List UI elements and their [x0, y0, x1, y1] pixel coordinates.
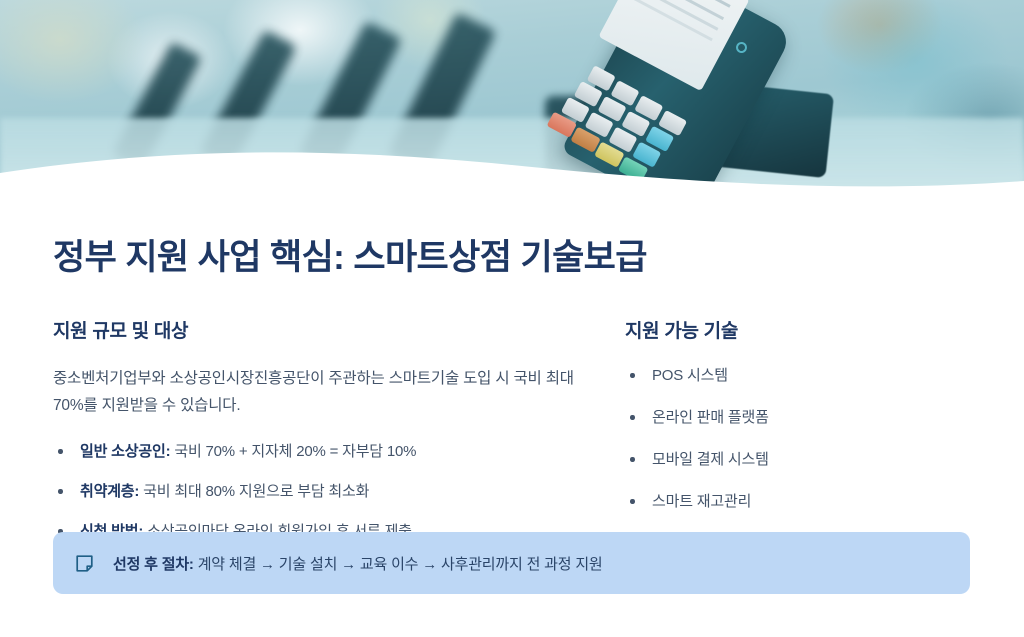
section-heading-left: 지원 규모 및 대상 — [53, 316, 593, 343]
slide: 정부 지원 사업 핵심: 스마트상점 기술보급 지원 규모 및 대상 중소벤처기… — [0, 0, 1024, 637]
process-callout-label: 선정 후 절차: — [113, 556, 194, 573]
lead-paragraph: 중소벤처기업부와 소상공인시장진흥공단이 주관하는 스마트기술 도입 시 국비 … — [53, 365, 593, 419]
support-scope-section: 지원 규모 및 대상 중소벤처기업부와 소상공인시장진흥공단이 주관하는 스마트… — [53, 316, 593, 561]
list-item: 스마트 재고관리 — [625, 491, 975, 512]
support-scope-list: 일반 소상공인: 국비 70% + 지자체 20% = 자부담 10% 취약계층… — [53, 441, 593, 542]
list-item-label: 일반 소상공인: — [80, 443, 170, 460]
section-heading-right: 지원 가능 기술 — [625, 316, 975, 343]
note-icon — [76, 555, 93, 572]
list-item-text: 국비 70% + 지자체 20% = 자부담 10% — [170, 443, 416, 460]
list-item: 일반 소상공인: 국비 70% + 지자체 20% = 자부담 10% — [53, 441, 593, 462]
page-title: 정부 지원 사업 핵심: 스마트상점 기술보급 — [53, 229, 647, 280]
available-tech-list: POS 시스템 온라인 판매 플랫폼 모바일 결제 시스템 스마트 재고관리 디… — [625, 365, 975, 554]
list-item: 온라인 판매 플랫폼 — [625, 407, 975, 428]
list-item: 모바일 결제 시스템 — [625, 449, 975, 470]
process-callout-steps: 계약 체결 → 기술 설치 → 교육 이수 → 사후관리까지 전 과정 지원 — [194, 556, 603, 573]
process-callout-text: 선정 후 절차: 계약 체결 → 기술 설치 → 교육 이수 → 사후관리까지 … — [113, 553, 603, 574]
process-callout: 선정 후 절차: 계약 체결 → 기술 설치 → 교육 이수 → 사후관리까지 … — [53, 532, 970, 594]
hero-banner — [0, 0, 1024, 196]
wave-divider — [0, 151, 1024, 196]
list-item: POS 시스템 — [625, 365, 975, 386]
list-item-text: 국비 최대 80% 지원으로 부담 최소화 — [139, 483, 369, 500]
list-item: 취약계층: 국비 최대 80% 지원으로 부담 최소화 — [53, 481, 593, 502]
list-item-label: 취약계층: — [80, 483, 139, 500]
